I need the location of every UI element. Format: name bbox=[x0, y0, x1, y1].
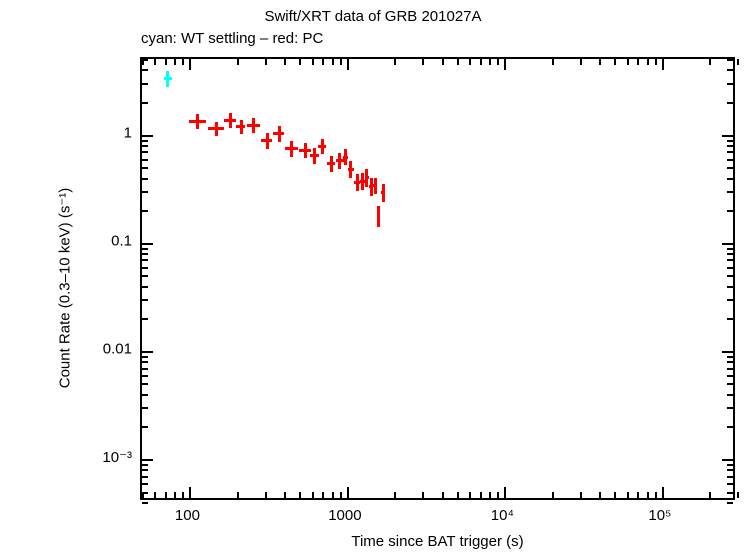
data-point-yerror bbox=[313, 148, 316, 163]
plot-area bbox=[140, 57, 735, 500]
data-point-yerror bbox=[356, 174, 359, 191]
data-point-yerror bbox=[278, 126, 281, 141]
data-point-yerror bbox=[330, 156, 333, 173]
data-point-yerror bbox=[196, 114, 199, 129]
data-point-yerror bbox=[365, 169, 368, 187]
data-point-yerror bbox=[240, 120, 243, 134]
data-point-yerror bbox=[338, 153, 341, 169]
chart-subtitle-legend: cyan: WT settling – red: PC bbox=[141, 30, 323, 47]
x-tick bbox=[737, 492, 739, 498]
data-point-yerror bbox=[252, 118, 255, 133]
x-axis-title: Time since BAT trigger (s) bbox=[140, 533, 735, 550]
data-point-yerror bbox=[374, 178, 377, 195]
chart-title: Swift/XRT data of GRB 201027A bbox=[0, 8, 746, 25]
data-point-yerror bbox=[349, 161, 352, 178]
data-point-yerror bbox=[382, 184, 385, 202]
y-axis-title: Count Rate (0.3–10 keV) (s⁻¹) bbox=[56, 67, 74, 510]
data-series-layer bbox=[142, 59, 733, 498]
data-point-yerror bbox=[215, 122, 218, 137]
data-point-yerror bbox=[266, 133, 269, 149]
x-tick bbox=[737, 59, 739, 65]
data-point-yerror bbox=[304, 143, 307, 158]
x-tick-label: 1000 bbox=[328, 507, 361, 524]
y-tick bbox=[142, 502, 148, 504]
data-point-yerror bbox=[290, 141, 293, 157]
data-point-yerror bbox=[361, 173, 364, 189]
data-point-yerror bbox=[229, 113, 232, 128]
data-point-yerror bbox=[344, 149, 347, 165]
data-point-yerror bbox=[377, 206, 380, 227]
x-tick-label: 10⁴ bbox=[491, 507, 514, 524]
data-point-yerror bbox=[321, 139, 324, 154]
x-tick-label: 10⁵ bbox=[648, 507, 671, 524]
y-tick bbox=[727, 502, 733, 504]
plot-page: Swift/XRT data of GRB 201027A cyan: WT s… bbox=[0, 0, 746, 558]
data-point-yerror bbox=[370, 178, 373, 196]
x-tick-label: 100 bbox=[175, 507, 200, 524]
data-point-yerror bbox=[166, 71, 169, 87]
